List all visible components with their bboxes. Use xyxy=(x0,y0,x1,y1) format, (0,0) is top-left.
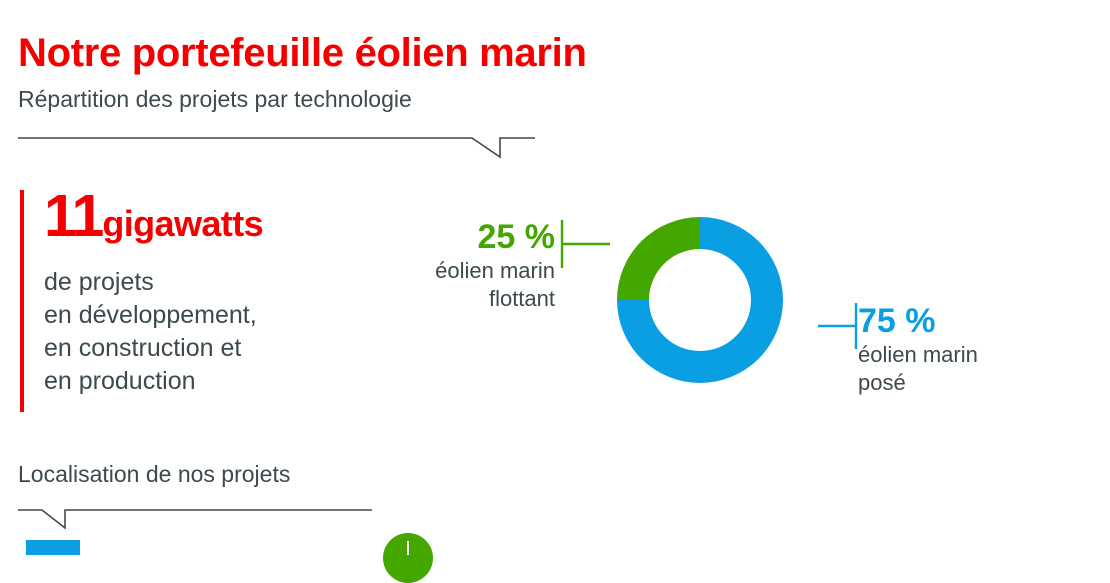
infographic-canvas: Notre portefeuille éolien marin Répartit… xyxy=(0,0,1110,555)
stat-body: 11gigawatts de projets en développement,… xyxy=(44,188,263,398)
legend-swatch-pose xyxy=(26,540,80,555)
callout-flottant-value: 25 % xyxy=(340,218,555,256)
donut-slice-flottant xyxy=(617,217,700,300)
callout-pose: 75 % éolien marin posé xyxy=(858,302,1088,396)
divider-localisation xyxy=(0,503,400,537)
map-pin-stem xyxy=(407,541,409,555)
callout-pose-value: 75 % xyxy=(858,302,1088,340)
divider-technology-path xyxy=(18,138,535,157)
stat-description-line: en production xyxy=(44,365,263,398)
donut-chart xyxy=(610,210,790,390)
callout-pose-desc-line1: éolien marin xyxy=(858,342,1088,368)
callout-flottant: 25 % éolien marin flottant xyxy=(340,218,555,312)
stat-headline: 11gigawatts xyxy=(44,188,263,260)
section-heading-technology: Répartition des projets par technologie xyxy=(18,85,412,113)
page-title: Notre portefeuille éolien marin xyxy=(18,29,587,77)
stat-block-capacity: 11gigawatts de projets en développement,… xyxy=(20,188,360,414)
callout-pose-desc-line2: posé xyxy=(858,370,1088,396)
donut-chart-svg xyxy=(610,210,790,390)
stat-unit: gigawatts xyxy=(102,203,263,244)
section-heading-localisation: Localisation de nos projets xyxy=(18,460,290,488)
stat-description-line: en construction et xyxy=(44,332,263,365)
stat-number: 11 xyxy=(44,183,102,249)
stat-description-list: de projets en développement, en construc… xyxy=(44,266,263,398)
callout-flottant-desc-line2: flottant xyxy=(340,286,555,312)
divider-localisation-path xyxy=(18,510,372,528)
stat-accent-rule xyxy=(20,190,24,412)
stat-description-line: de projets xyxy=(44,266,263,299)
divider-technology xyxy=(0,130,560,164)
leader-line-flottant xyxy=(555,216,615,272)
stat-description-line: en développement, xyxy=(44,299,263,332)
callout-flottant-desc-line1: éolien marin xyxy=(340,258,555,284)
map-pin-icon xyxy=(383,533,433,583)
